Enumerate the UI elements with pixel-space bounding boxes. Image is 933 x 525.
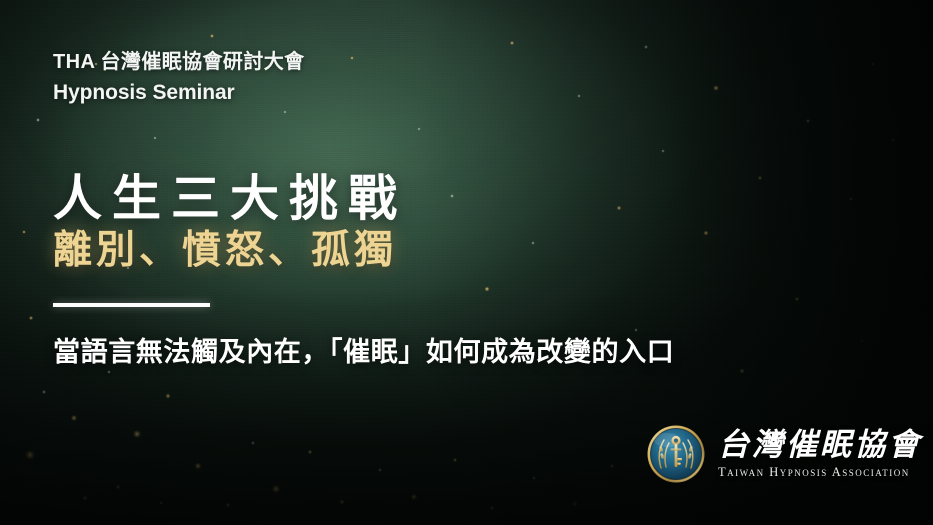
slide-headline: 人生三大挑戰 <box>53 173 407 226</box>
slide-subheadline: 離別、憤怒、孤獨 <box>53 229 397 273</box>
event-name-en: Hypnosis Seminar <box>53 79 693 106</box>
title-divider-rule <box>53 303 210 307</box>
presentation-slide: THA 台灣催眠協會研討大會 Hypnosis Seminar 人生三大挑戰 離… <box>0 0 933 525</box>
association-name-zh: 台灣催眠協會 <box>718 428 922 463</box>
slide-content: THA 台灣催眠協會研討大會 Hypnosis Seminar 人生三大挑戰 離… <box>0 0 933 525</box>
association-name-en: Taiwan Hypnosis Association <box>718 465 922 480</box>
event-name-zh: THA 台灣催眠協會研討大會 <box>53 50 693 76</box>
association-logo: 台灣催眠協會 Taiwan Hypnosis Association <box>646 424 922 484</box>
association-logo-text: 台灣催眠協會 Taiwan Hypnosis Association <box>718 428 922 481</box>
association-emblem-icon <box>646 424 706 484</box>
slide-body-text: 當語言無法觸及內在，「催眠」如何成為改變的入口 <box>53 336 674 370</box>
event-eyebrow: THA 台灣催眠協會研討大會 Hypnosis Seminar <box>53 50 693 106</box>
